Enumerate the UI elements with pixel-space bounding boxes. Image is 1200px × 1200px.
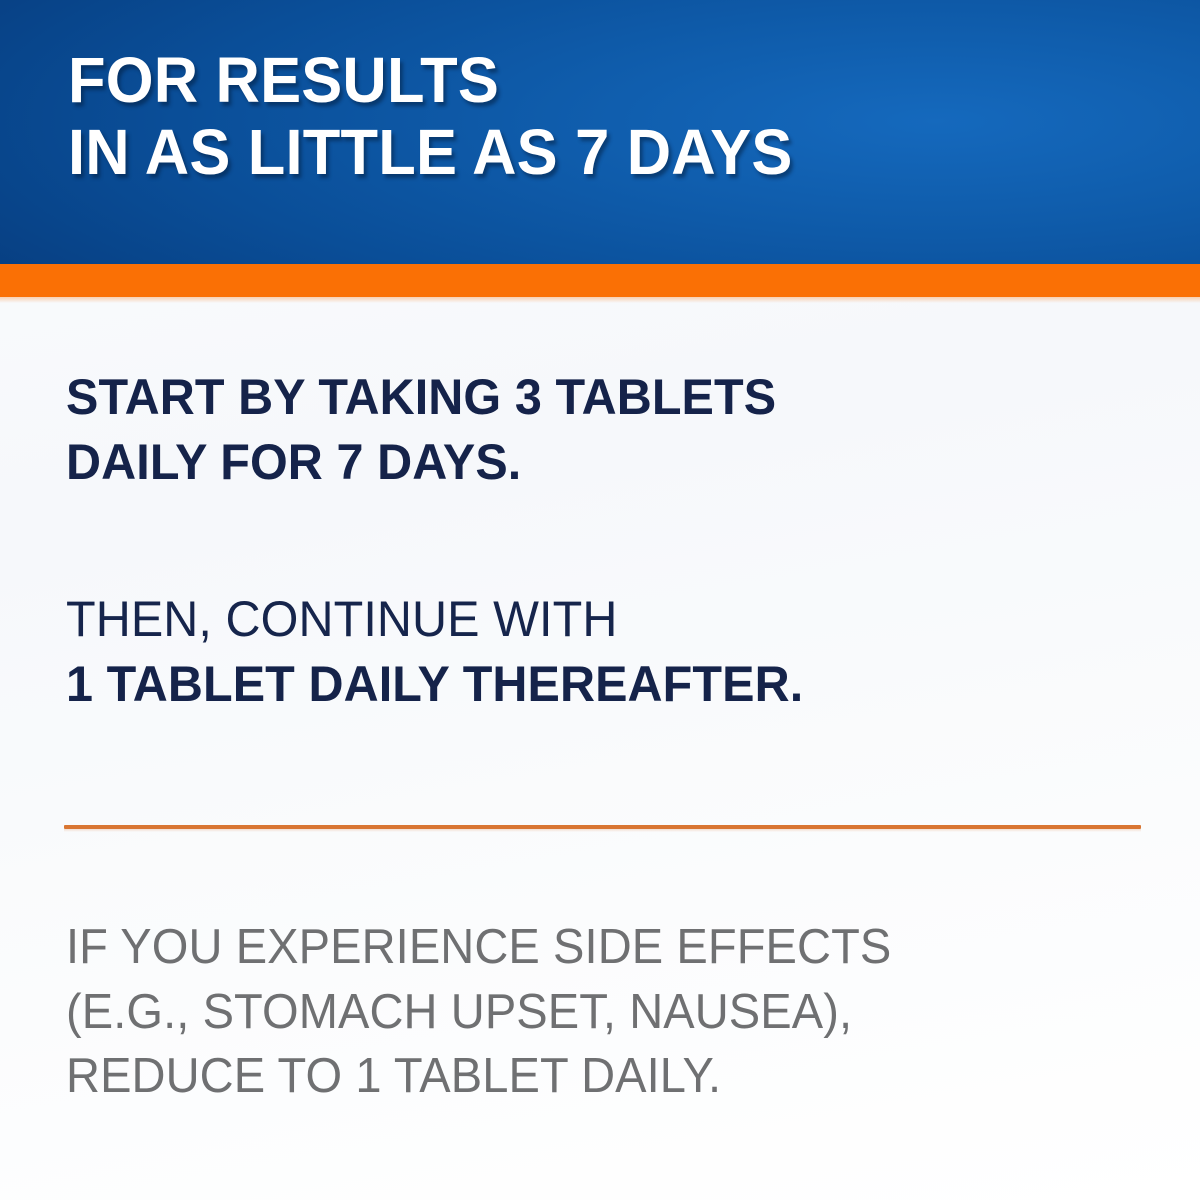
header-banner: FOR RESULTS IN AS LITTLE AS 7 DAYS [0,0,1200,264]
side-effects-disclaimer: IF YOU EXPERIENCE SIDE EFFECTS (E.G., ST… [66,915,926,1109]
product-directions-graphic: FOR RESULTS IN AS LITTLE AS 7 DAYS START… [0,0,1200,1200]
header-banner-text: FOR RESULTS IN AS LITTLE AS 7 DAYS [68,44,1160,189]
headline-line-1: FOR RESULTS [68,44,1116,116]
disclaimer-line-1: IF YOU EXPERIENCE SIDE EFFECTS [66,915,891,980]
primary-instruction-block: START BY TAKING 3 TABLETS DAILY FOR 7 DA… [66,365,1150,495]
headline-line-2: IN AS LITTLE AS 7 DAYS [68,116,1116,188]
section-divider [64,825,1141,832]
primary-instruction-line-1: START BY TAKING 3 TABLETS [66,365,1117,430]
disclaimer-line-2: (E.G., STOMACH UPSET, NAUSEA), [66,980,891,1045]
section-divider-shadow [64,829,1141,832]
secondary-instruction-line-2: 1 TABLET DAILY THEREAFTER. [66,652,1117,717]
primary-instruction-line-2: DAILY FOR 7 DAYS. [66,430,1117,495]
orange-accent-bar [0,264,1200,297]
secondary-instruction-block: THEN, CONTINUE WITH 1 TABLET DAILY THERE… [66,587,1150,717]
instructions-body: START BY TAKING 3 TABLETS DAILY FOR 7 DA… [66,303,1150,1200]
disclaimer-line-3: REDUCE TO 1 TABLET DAILY. [66,1044,891,1109]
secondary-instruction-line-1: THEN, CONTINUE WITH [66,587,1117,652]
